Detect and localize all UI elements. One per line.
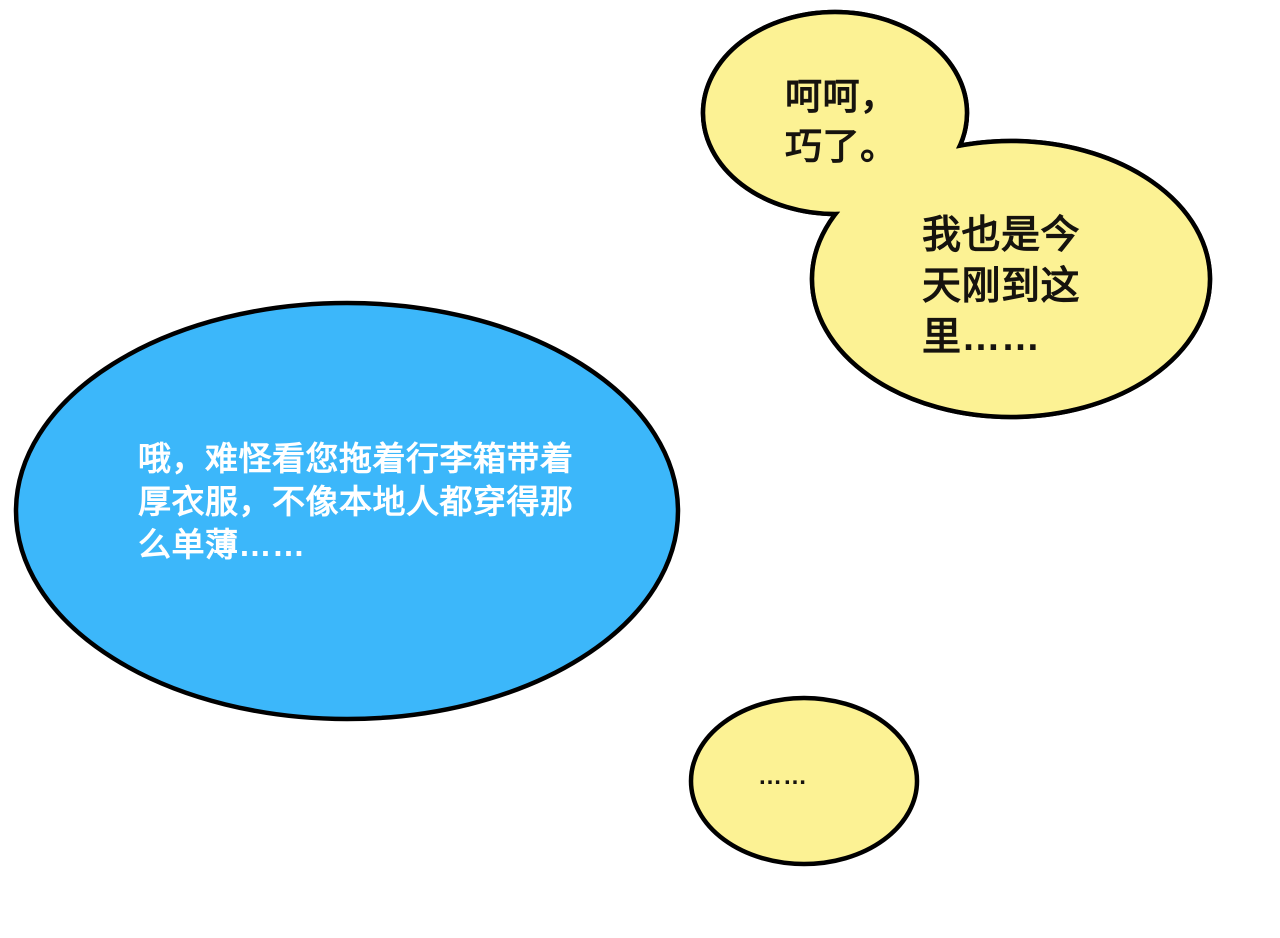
bubble-yellow-top-text: 呵呵， 巧了。: [785, 72, 955, 172]
bubble-yellow-main-text: 我也是今 天刚到这 里……: [922, 210, 1122, 363]
comic-panel: 呵呵， 巧了。 我也是今 天刚到这 里…… 哦，难怪看您拖着行李箱带着厚衣服，不…: [0, 0, 1280, 938]
bubble-yellow-small-text: ……: [758, 762, 878, 792]
bubble-blue-text: 哦，难怪看您拖着行李箱带着厚衣服，不像本地人都穿得那么单薄……: [138, 437, 588, 566]
